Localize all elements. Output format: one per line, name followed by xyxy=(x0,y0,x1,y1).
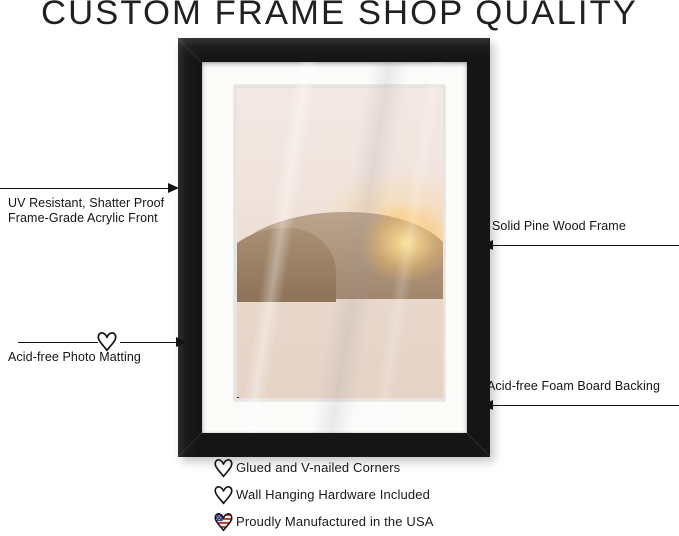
feature-label: Proudly Manufactured in the USA xyxy=(236,514,434,529)
annotation-acrylic-front: UV Resistant, Shatter Proof Frame-Grade … xyxy=(8,196,164,226)
heart-icon xyxy=(96,331,118,355)
mitre-corner-bottom-left xyxy=(178,432,203,457)
right-arrow-icon xyxy=(176,337,187,347)
annotation-pine-frame: Solid Pine Wood Frame xyxy=(492,219,626,234)
annotation-line-1: UV Resistant, Shatter Proof xyxy=(8,196,164,211)
annotation-line-2: Frame-Grade Acrylic Front xyxy=(8,211,164,226)
list-item: Glued and V-nailed Corners xyxy=(210,455,630,480)
annotation-arrow-line xyxy=(18,342,98,343)
annotation-foam-backing: Acid-free Foam Board Backing xyxy=(487,379,660,394)
feature-list: Glued and V-nailed Corners Wall Hanging … xyxy=(210,455,630,536)
heart-icon xyxy=(210,458,236,478)
feature-label: Wall Hanging Hardware Included xyxy=(236,487,430,502)
mitre-corner-top-left xyxy=(178,38,202,63)
list-item: Proudly Manufactured in the USA xyxy=(210,509,630,534)
right-arrow-icon xyxy=(168,183,179,193)
annotation-photo-matting: Acid-free Photo Matting xyxy=(8,350,141,365)
framed-photo xyxy=(237,88,443,398)
list-item: Wall Hanging Hardware Included xyxy=(210,482,630,507)
page-title: CUSTOM FRAME SHOP QUALITY xyxy=(0,0,679,33)
feature-label: Glued and V-nailed Corners xyxy=(236,460,400,475)
photo-sun-flare xyxy=(344,190,443,295)
man-necklace-inner xyxy=(237,397,239,398)
annotation-arrow-line xyxy=(120,342,178,343)
heart-icon xyxy=(210,485,236,505)
annotation-arrow-line xyxy=(492,245,679,246)
annotation-line-1: Acid-free Photo Matting xyxy=(8,350,141,365)
infographic-canvas: CUSTOM FRAME SHOP QUALITY xyxy=(0,0,679,530)
annotation-line-1: Acid-free Foam Board Backing xyxy=(487,379,660,394)
annotation-line-1: Solid Pine Wood Frame xyxy=(492,219,626,234)
annotation-arrow-line xyxy=(492,405,679,406)
annotation-arrow-line xyxy=(0,188,170,189)
mitre-corner-bottom-right xyxy=(466,432,490,457)
heart-flag-usa-icon xyxy=(210,512,236,532)
